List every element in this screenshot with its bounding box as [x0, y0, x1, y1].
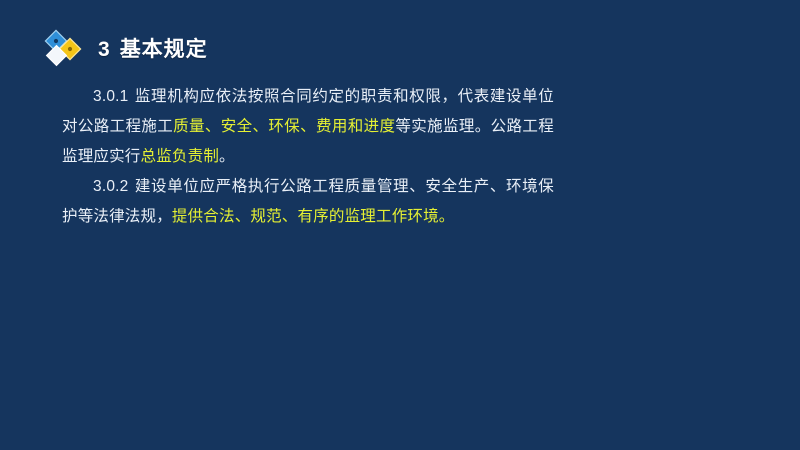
- slide-body: 3.0.1监理机构应依法按照合同约定的职责和权限，代表建设单位对公路工程施工质量…: [62, 82, 554, 232]
- page-title-number: 3: [98, 38, 111, 61]
- clause-text-highlight: 总监负责制: [141, 148, 220, 165]
- clause-number: 3.0.2: [93, 178, 128, 195]
- clause-paragraph: 3.0.2建设单位应严格执行公路工程质量管理、安全生产、环境保护等法律法规，提供…: [62, 172, 554, 232]
- clause-text-highlight: 提供合法、规范、有序的监理工作环境。: [172, 208, 455, 225]
- three-diamonds-logo-icon: [42, 27, 86, 71]
- clause-text-segment: 。: [219, 148, 235, 165]
- clause-paragraph: 3.0.1监理机构应依法按照合同约定的职责和权限，代表建设单位对公路工程施工质量…: [62, 82, 554, 172]
- slide-empty-area: [0, 250, 800, 450]
- clause-number: 3.0.1: [93, 88, 128, 105]
- page-title: 3基本规定: [98, 39, 208, 60]
- presentation-slide: 3基本规定 3.0.1监理机构应依法按照合同约定的职责和权限，代表建设单位对公路…: [0, 0, 800, 450]
- page-title-text: 基本规定: [120, 38, 208, 61]
- slide-header: 3基本规定: [42, 26, 208, 72]
- clause-text-highlight: 质量、安全、环保、费用和进度: [173, 118, 395, 135]
